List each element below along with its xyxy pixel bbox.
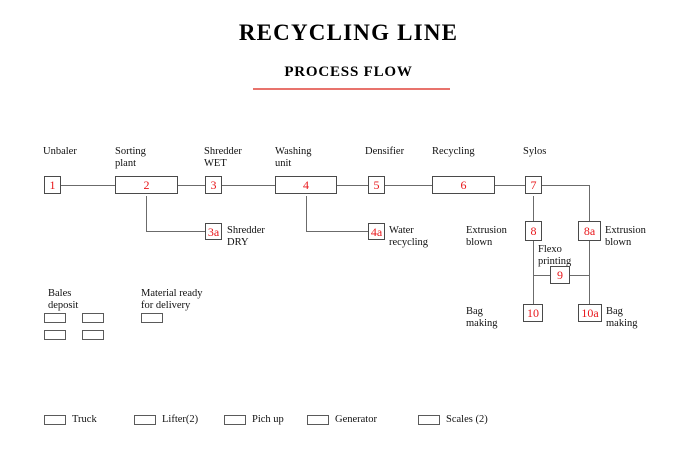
process-box-6[interactable]: 6 bbox=[432, 176, 495, 194]
bales-deposit-slots bbox=[44, 313, 114, 340]
legend-label-scales: Scales (2) bbox=[446, 414, 488, 425]
legend-item-truck[interactable]: Truck bbox=[44, 414, 97, 425]
bales-slot-1[interactable] bbox=[44, 313, 66, 323]
connector-4-5 bbox=[337, 185, 368, 186]
legend-swatch-lifter bbox=[134, 415, 156, 425]
process-box-8[interactable]: 8 bbox=[525, 221, 542, 241]
process-box-3[interactable]: 3 bbox=[205, 176, 222, 194]
node-label-8a: Extrusion blown bbox=[605, 225, 646, 249]
node-label-5: Densifier bbox=[365, 146, 404, 158]
legend-label-truck: Truck bbox=[72, 414, 97, 425]
legend-swatch-scales bbox=[418, 415, 440, 425]
bales-slot-4[interactable] bbox=[82, 330, 104, 340]
node-label-7: Sylos bbox=[523, 146, 546, 158]
connector-4-4a-vertical bbox=[306, 196, 307, 231]
node-label-10a: Bag making bbox=[606, 306, 638, 330]
process-box-8a[interactable]: 8a bbox=[578, 221, 601, 241]
connector-2-3 bbox=[178, 185, 205, 186]
legend-swatch-generator bbox=[307, 415, 329, 425]
material-ready-slot-1[interactable] bbox=[141, 313, 163, 323]
node-label-3a: Shredder DRY bbox=[227, 225, 265, 249]
node-label-4a: Water recycling bbox=[389, 225, 428, 249]
node-label-9: Flexo printing bbox=[538, 244, 571, 268]
connector-8-10-vertical bbox=[533, 241, 534, 305]
node-label-6: Recycling bbox=[432, 146, 475, 158]
legend-swatch-pick-up bbox=[224, 415, 246, 425]
legend-swatch-truck bbox=[44, 415, 66, 425]
node-label-1: Unbaler bbox=[43, 146, 77, 158]
process-box-3a[interactable]: 3a bbox=[205, 223, 222, 240]
diagram-canvas: RECYCLING LINE PROCESS FLOW Unbaler Sort… bbox=[0, 0, 697, 455]
connector-4-4a-horizontal bbox=[306, 231, 368, 232]
node-label-2: Sorting plant bbox=[115, 146, 146, 170]
page-subtitle: PROCESS FLOW bbox=[0, 64, 697, 81]
page-title: RECYCLING LINE bbox=[0, 20, 697, 46]
connector-3-4 bbox=[222, 185, 275, 186]
legend-item-scales[interactable]: Scales (2) bbox=[418, 414, 488, 425]
process-box-10[interactable]: 10 bbox=[523, 304, 543, 322]
title-underline-rule bbox=[253, 88, 450, 90]
legend-label-generator: Generator bbox=[335, 414, 377, 425]
connector-2-3a-vertical bbox=[146, 196, 147, 231]
node-label-8: Extrusion blown bbox=[466, 225, 507, 249]
connector-6-7 bbox=[495, 185, 525, 186]
connector-7-8-vertical bbox=[533, 196, 534, 221]
material-ready-slots bbox=[141, 313, 163, 323]
process-box-4a[interactable]: 4a bbox=[368, 223, 385, 240]
process-box-5[interactable]: 5 bbox=[368, 176, 385, 194]
process-box-9[interactable]: 9 bbox=[550, 266, 570, 284]
process-box-2[interactable]: 2 bbox=[115, 176, 178, 194]
group-title-material-ready: Material ready for delivery bbox=[141, 288, 203, 312]
process-box-10a[interactable]: 10a bbox=[578, 304, 602, 322]
connector-2-3a-horizontal bbox=[146, 231, 205, 232]
legend-item-lifter[interactable]: Lifter(2) bbox=[134, 414, 198, 425]
legend-item-pick-up[interactable]: Pich up bbox=[224, 414, 284, 425]
bales-slot-3[interactable] bbox=[44, 330, 66, 340]
node-label-10: Bag making bbox=[466, 306, 498, 330]
connector-9-8atrunk bbox=[570, 275, 589, 276]
node-label-4: Washing unit bbox=[275, 146, 311, 170]
process-box-4[interactable]: 4 bbox=[275, 176, 337, 194]
connector-8a-10a-vertical bbox=[589, 241, 590, 305]
connector-1-2 bbox=[60, 185, 115, 186]
legend-label-pick-up: Pich up bbox=[252, 414, 284, 425]
connector-7-8a-horizontal bbox=[542, 185, 589, 186]
connector-5-6 bbox=[385, 185, 432, 186]
legend-label-lifter: Lifter(2) bbox=[162, 414, 198, 425]
process-box-1[interactable]: 1 bbox=[44, 176, 61, 194]
connector-8trunk-9 bbox=[533, 275, 550, 276]
bales-slot-2[interactable] bbox=[82, 313, 104, 323]
process-box-7[interactable]: 7 bbox=[525, 176, 542, 194]
connector-7-8a-vertical bbox=[589, 185, 590, 221]
node-label-3: Shredder WET bbox=[204, 146, 242, 170]
group-title-bales-deposit: Bales deposit bbox=[48, 288, 78, 312]
legend-item-generator[interactable]: Generator bbox=[307, 414, 377, 425]
